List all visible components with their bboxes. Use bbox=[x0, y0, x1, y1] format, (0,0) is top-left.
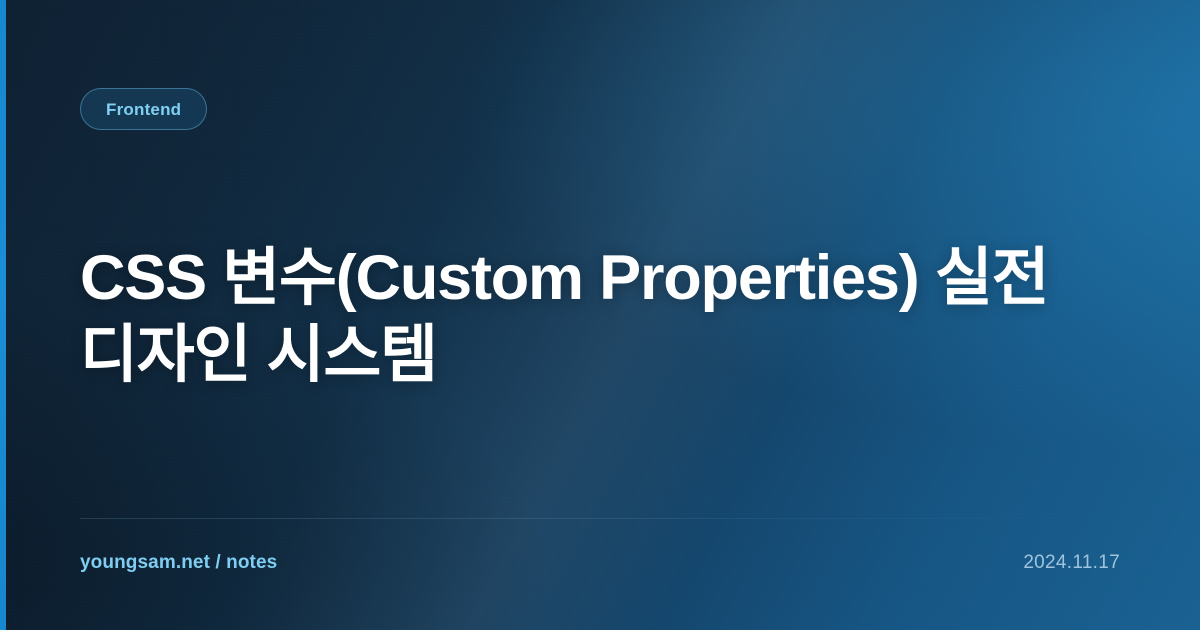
card-content: Frontend CSS 변수(Custom Properties) 실전 디자… bbox=[0, 0, 1200, 630]
page-title: CSS 변수(Custom Properties) 실전 디자인 시스템 bbox=[80, 240, 1120, 394]
page-title-line-1: CSS 변수(Custom Properties) 실전 bbox=[80, 240, 1120, 317]
og-card: Frontend CSS 변수(Custom Properties) 실전 디자… bbox=[0, 0, 1200, 630]
site-name[interactable]: youngsam.net / notes bbox=[80, 552, 277, 574]
publish-date: 2024.11.17 bbox=[1023, 552, 1120, 574]
page-title-line-2: 디자인 시스템 bbox=[80, 317, 1120, 394]
title-block: CSS 변수(Custom Properties) 실전 디자인 시스템 bbox=[80, 116, 1120, 518]
card-footer: youngsam.net / notes 2024.11.17 bbox=[80, 518, 1120, 574]
left-accent-bar bbox=[0, 0, 6, 630]
